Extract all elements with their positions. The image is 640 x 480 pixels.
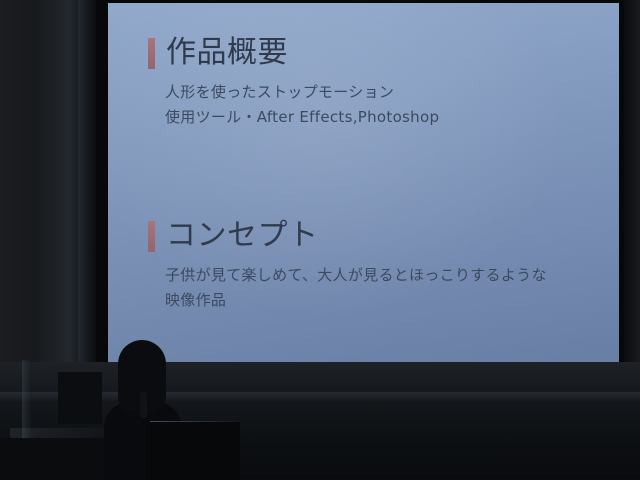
slide-section-overview: 作品概要 人形を使ったストップモーション 使用ツール・After Effects… — [148, 37, 619, 130]
accent-bar-icon — [148, 38, 155, 69]
microphone-icon — [140, 392, 147, 418]
body-line: 映像作品 — [165, 288, 619, 313]
projected-slide: 作品概要 人形を使ったストップモーション 使用ツール・After Effects… — [108, 3, 619, 363]
body-line: 子供が見て楽しめて、大人が見るとほっこりするような — [165, 263, 619, 288]
side-monitor — [58, 372, 102, 424]
section-body: 人形を使ったストップモーション 使用ツール・After Effects,Phot… — [165, 80, 619, 130]
section-heading: コンセプト — [166, 220, 319, 252]
slide-section-concept: コンセプト 子供が見て楽しめて、大人が見るとほっこりするような 映像作品 — [148, 220, 619, 313]
body-line: 人形を使ったストップモーション — [165, 80, 619, 105]
presentation-photo: 作品概要 人形を使ったストップモーション 使用ツール・After Effects… — [0, 0, 640, 480]
section-heading-row: コンセプト — [148, 220, 619, 252]
section-heading: 作品概要 — [166, 37, 288, 69]
body-line: 使用ツール・After Effects,Photoshop — [165, 105, 619, 130]
accent-bar-icon — [148, 221, 155, 252]
section-body: 子供が見て楽しめて、大人が見るとほっこりするような 映像作品 — [165, 263, 619, 313]
left-wall-highlight — [78, 0, 94, 400]
section-heading-row: 作品概要 — [148, 37, 619, 69]
slide-content: 作品概要 人形を使ったストップモーション 使用ツール・After Effects… — [108, 3, 619, 313]
podium — [148, 422, 240, 480]
